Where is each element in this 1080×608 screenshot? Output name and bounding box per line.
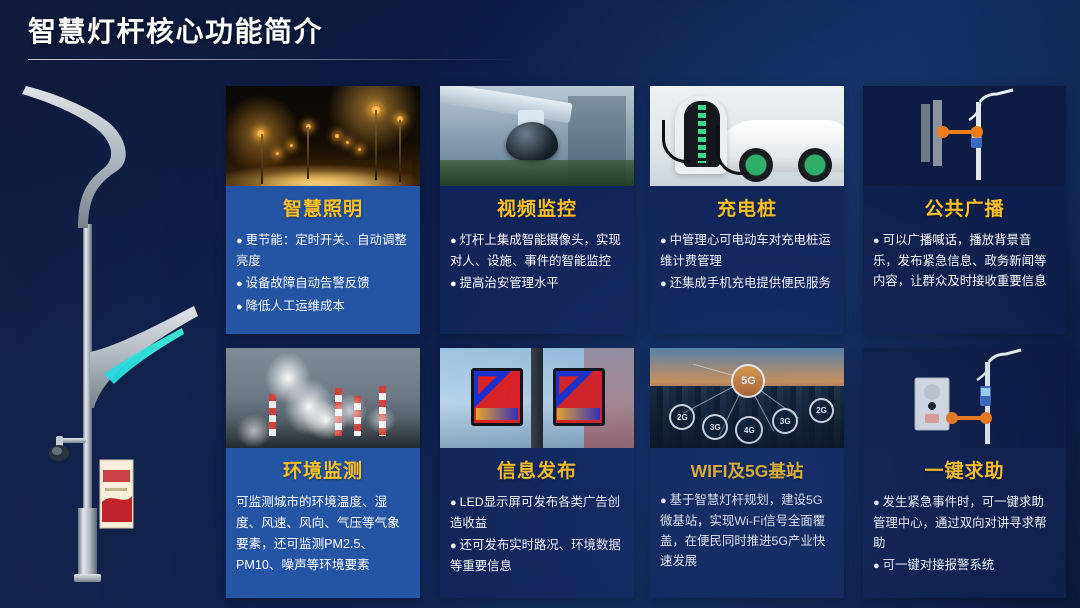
feature-card-video-surveillance[interactable]: 视频监控 ●灯杆上集成智能摄像头，实现对人、设施、事件的智能监控 ●提高治安管理… (440, 86, 634, 334)
bullet-dot: ● (450, 497, 457, 509)
bullet-item: ●可以广播喊话，播放背景音乐，发布紧急信息、政务新闻等内容，让群众及时接收重要信… (873, 230, 1056, 291)
slide-canvas: 智慧灯杆核心功能简介 (0, 0, 1080, 608)
photo-ev-charging-station-car (650, 86, 844, 186)
bullet-text: 提高治安管理水平 (460, 276, 559, 290)
light-pole-svg (12, 78, 217, 598)
bullet-dot: ● (450, 278, 457, 290)
bullet-item: ●LED显示屏可发布各类广告创造收益 (450, 492, 624, 533)
title-divider (28, 59, 518, 60)
card-title: 智慧照明 (236, 200, 410, 221)
bullet-dot: ● (660, 278, 667, 290)
card-title: 视频监控 (450, 200, 624, 221)
photo-ptz-dome-camera (440, 86, 634, 186)
bullet-text: 更节能：定时开关、自动调整亮度 (236, 233, 407, 268)
bullet-dot: ● (873, 560, 880, 572)
bullet-dot: ● (660, 495, 667, 507)
bullet-text: 发生紧急事件时，可一键求助管理中心，通过双向对讲寻求帮助 (873, 495, 1046, 550)
bullet-text: LED显示屏可发布各类广告创造收益 (450, 495, 620, 530)
photo-city-skyline-5g-network: 5G 2G 3G 4G 3G 2G (650, 348, 844, 448)
card-body: 公共广播 ●可以广播喊话，播放背景音乐，发布紧急信息、政务新闻等内容，让群众及时… (863, 186, 1066, 334)
card-bullets: ●发生紧急事件时，可一键求助管理中心，通过双向对讲寻求帮助 ●可一键对接报警系统 (873, 492, 1056, 576)
help-callbox-diagram-svg (863, 348, 1066, 448)
bullet-dot: ● (450, 540, 457, 552)
card-title: 环境监测 (236, 462, 410, 483)
card-bullets: ●LED显示屏可发布各类广告创造收益 ●还可发布实时路况、环境数据等重要信息 (450, 492, 624, 576)
bullet-item: ●灯杆上集成智能摄像头，实现对人、设施、事件的智能监控 (450, 230, 624, 271)
bullet-dot: ● (660, 235, 667, 247)
feature-card-environment-monitoring[interactable]: 环境监测 可监测城市的环境温度、湿度、风速、风向、气压等气象要素，还可监测PM2… (226, 348, 420, 598)
card-bullets: ●更节能：定时开关、自动调整亮度 ●设备故障自动告警反馈 ●降低人工运维成本 (236, 230, 410, 317)
photo-night-road-streetlights (226, 86, 420, 186)
bullet-dot: ● (236, 301, 243, 313)
page-title: 智慧灯杆核心功能简介 (28, 14, 548, 50)
bullet-dot: ● (236, 235, 243, 247)
bullet-item: ●还可发布实时路况、环境数据等重要信息 (450, 535, 624, 576)
feature-card-one-key-help[interactable]: 一键求助 ●发生紧急事件时，可一键求助管理中心，通过双向对讲寻求帮助 ●可一键对… (863, 348, 1066, 598)
card-body: 一键求助 ●发生紧急事件时，可一键求助管理中心，通过双向对讲寻求帮助 ●可一键对… (863, 448, 1066, 598)
pole-foot (74, 574, 101, 582)
card-title: WIFI及5G基站 (660, 462, 834, 481)
card-body: WIFI及5G基站 ●基于智慧灯杆规划，建设5G微基站，实现Wi-Fi信号全面覆… (650, 448, 844, 598)
bullet-text: 降低人工运维成本 (246, 299, 345, 313)
bullet-item: ●更节能：定时开关、自动调整亮度 (236, 230, 410, 271)
feature-card-public-broadcast[interactable]: 公共广播 ●可以广播喊话，播放背景音乐，发布紧急信息、政务新闻等内容，让群众及时… (863, 86, 1066, 334)
feature-card-wifi-5g[interactable]: 5G 2G 3G 4G 3G 2G WIFI及5G基站 ●基于智慧灯杆规划，建设… (650, 348, 844, 598)
card-body: 环境监测 可监测城市的环境温度、湿度、风速、风向、气压等气象要素，还可监测PM2… (226, 448, 420, 598)
pole-banner (100, 460, 133, 528)
card-bullets: ●基于智慧灯杆规划，建设5G微基站，实现Wi-Fi信号全面覆盖，在便民同时推进5… (660, 490, 834, 571)
page-header: 智慧灯杆核心功能简介 (28, 14, 548, 60)
card-bullets: ●可以广播喊话，播放背景音乐，发布紧急信息、政务新闻等内容，让群众及时接收重要信… (873, 230, 1056, 291)
bullet-item: ●还集成手机充电提供便民服务 (660, 273, 834, 294)
card-title: 公共广播 (873, 200, 1056, 221)
bullet-dot: ● (236, 278, 243, 290)
bullet-item: ●降低人工运维成本 (236, 296, 410, 317)
bullet-text: 还集成手机充电提供便民服务 (670, 276, 831, 290)
card-title: 一键求助 (873, 462, 1056, 483)
bullet-item: ●提高治安管理水平 (450, 273, 624, 294)
card-body: 信息发布 ●LED显示屏可发布各类广告创造收益 ●还可发布实时路况、环境数据等重… (440, 448, 634, 598)
network-bubble-2g-2: 2G (809, 398, 834, 423)
smart-light-pole-illustration (12, 78, 217, 598)
bullet-dot: ● (873, 497, 880, 509)
bullet-text: 灯杆上集成智能摄像头，实现对人、设施、事件的智能监控 (450, 233, 621, 268)
bullet-dot: ● (873, 235, 880, 247)
card-paragraph: 可监测城市的环境温度、湿度、风速、风向、气压等气象要素，还可监测PM2.5、PM… (236, 492, 410, 577)
feature-card-charging-pile[interactable]: 充电桩 ●中管理心可电动车对充电桩运维计费管理 ●还集成手机充电提供便民服务 (650, 86, 844, 334)
feature-card-information-release[interactable]: 信息发布 ●LED显示屏可发布各类广告创造收益 ●还可发布实时路况、环境数据等重… (440, 348, 634, 598)
photo-emergency-callbox-diagram (863, 348, 1066, 448)
bullet-item: ●设备故障自动告警反馈 (236, 273, 410, 294)
bullet-text: 可以广播喊话，播放背景音乐，发布紧急信息、政务新闻等内容，让群众及时接收重要信息 (873, 233, 1046, 288)
card-body: 智慧照明 ●更节能：定时开关、自动调整亮度 ●设备故障自动告警反馈 ●降低人工运… (226, 186, 420, 334)
feature-card-grid: 智慧照明 ●更节能：定时开关、自动调整亮度 ●设备故障自动告警反馈 ●降低人工运… (226, 86, 1066, 598)
pole-base (78, 508, 97, 582)
card-body: 视频监控 ●灯杆上集成智能摄像头，实现对人、设施、事件的智能监控 ●提高治安管理… (440, 186, 634, 334)
bullet-text: 中管理心可电动车对充电桩运维计费管理 (660, 233, 831, 268)
card-body: 充电桩 ●中管理心可电动车对充电桩运维计费管理 ●还集成手机充电提供便民服务 (650, 186, 844, 334)
bullet-dot: ● (450, 235, 457, 247)
bullet-text: 设备故障自动告警反馈 (246, 276, 370, 290)
card-title: 信息发布 (450, 462, 624, 483)
photo-industrial-smokestacks (226, 348, 420, 448)
bullet-text: 基于智慧灯杆规划，建设5G微基站，实现Wi-Fi信号全面覆盖，在便民同时推进5G… (660, 493, 825, 568)
bullet-text: 还可发布实时路况、环境数据等重要信息 (450, 538, 621, 573)
card-bullets: ●中管理心可电动车对充电桩运维计费管理 ●还集成手机充电提供便民服务 (660, 230, 834, 294)
bullet-item: ●基于智慧灯杆规划，建设5G微基站，实现Wi-Fi信号全面覆盖，在便民同时推进5… (660, 490, 834, 571)
broadcast-diagram-svg (863, 86, 1066, 186)
photo-pole-speaker-diagram (863, 86, 1066, 186)
bullet-item: ●发生紧急事件时，可一键求助管理中心，通过双向对讲寻求帮助 (873, 492, 1056, 553)
photo-led-billboards-on-pole (440, 348, 634, 448)
bullet-item: ●中管理心可电动车对充电桩运维计费管理 (660, 230, 834, 271)
card-title: 充电桩 (660, 200, 834, 221)
camera-lens (52, 447, 62, 455)
feature-card-smart-lighting[interactable]: 智慧照明 ●更节能：定时开关、自动调整亮度 ●设备故障自动告警反馈 ●降低人工运… (226, 86, 420, 334)
bullet-item: ●可一键对接报警系统 (873, 555, 1056, 576)
bullet-text: 可一键对接报警系统 (883, 558, 995, 572)
pole-upper-arm (22, 86, 126, 228)
card-bullets: ●灯杆上集成智能摄像头，实现对人、设施、事件的智能监控 ●提高治安管理水平 (450, 230, 624, 294)
